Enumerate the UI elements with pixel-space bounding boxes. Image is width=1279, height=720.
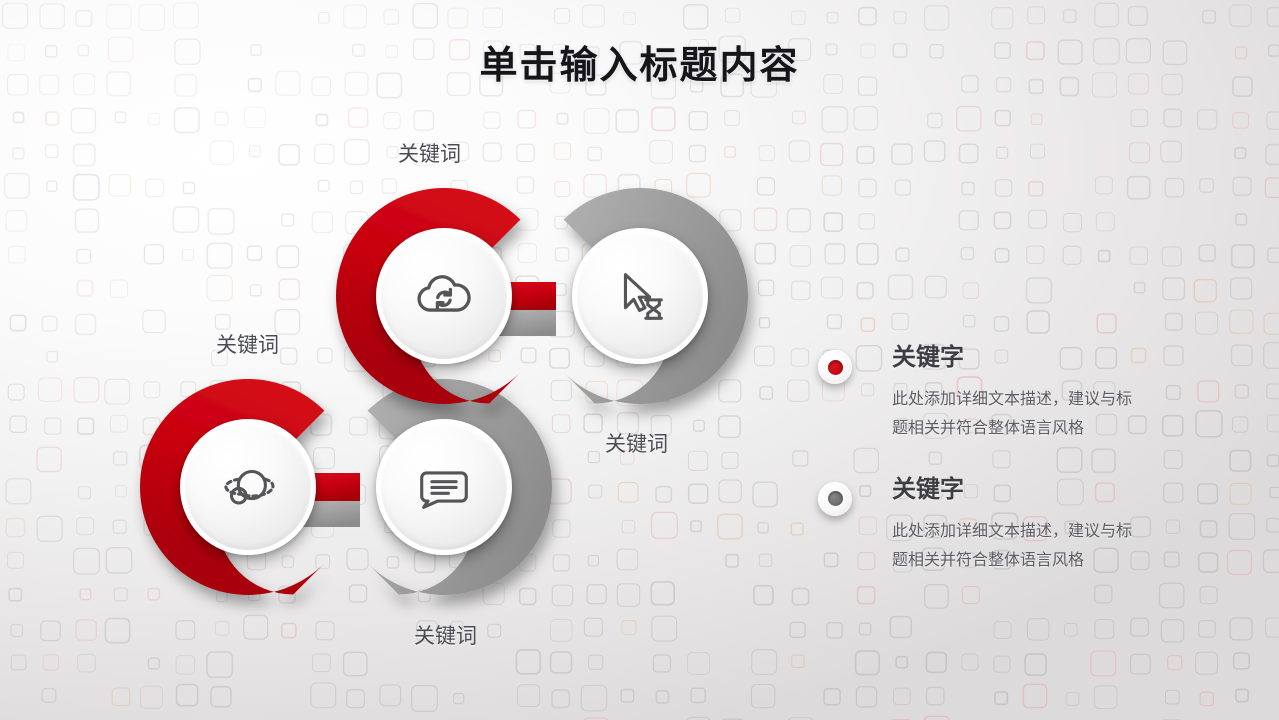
bullet-item-1[interactable]: 关键字 此处添加详细文本描述，建议与标题相关并符合整体语言风格 [818,344,1148,444]
node-3-disc[interactable] [180,419,316,555]
node-4-disc[interactable] [376,419,512,555]
cursor-hourglass-icon [609,265,671,327]
page-title: 单击输入标题内容 [0,34,1279,89]
node-1-label: 关键词 [398,138,461,168]
bullet-2-body: 此处添加详细文本描述，建议与标题相关并符合整体语言风格 [892,517,1144,576]
node-2-disc[interactable] [572,228,708,364]
bullet-marker-gray-icon [818,482,852,516]
atom-orbit-icon [217,456,279,518]
bullet-2-heading: 关键字 [892,476,1148,505]
bullet-1-body: 此处添加详细文本描述，建议与标题相关并符合整体语言风格 [892,385,1144,444]
bullet-marker-red-icon [818,350,852,384]
ring-graphics [0,0,800,720]
slide-canvas: 单击输入标题内容 [0,0,1279,720]
bullet-1-heading: 关键字 [892,344,1148,373]
bullet-item-2[interactable]: 关键字 此处添加详细文本描述，建议与标题相关并符合整体语言风格 [818,476,1148,576]
content-list: 关键字 此处添加详细文本描述，建议与标题相关并符合整体语言风格 关键字 此处添加… [818,344,1148,608]
chat-bubble-icon [413,456,475,518]
node-2-label: 关键词 [605,428,668,458]
infographic-diagram: 关键词 关键词 关键词 关键词 [0,0,800,720]
node-3-label: 关键词 [216,329,279,359]
node-4-label: 关键词 [414,620,477,650]
cloud-sync-icon [413,265,475,327]
node-1-disc[interactable] [376,228,512,364]
